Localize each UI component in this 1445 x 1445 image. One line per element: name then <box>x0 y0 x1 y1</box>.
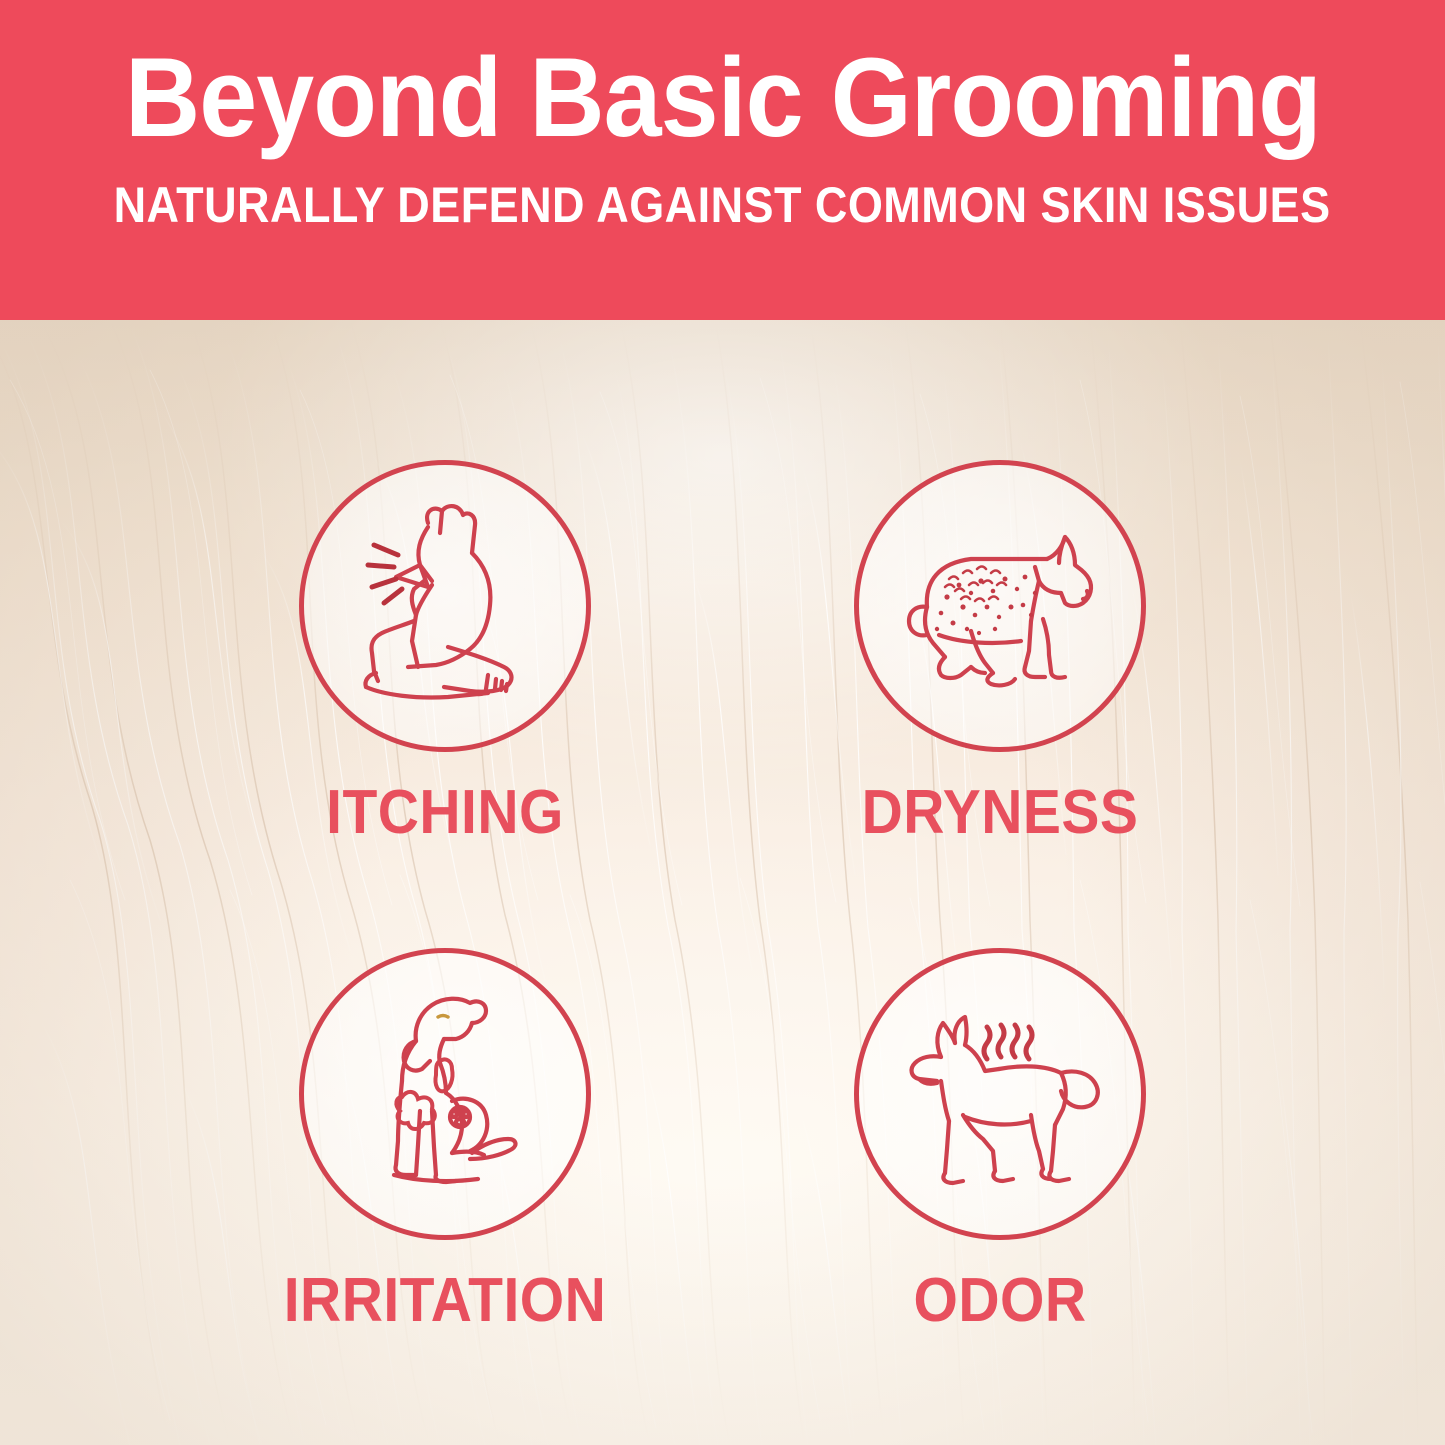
issue-icon-circle <box>854 948 1146 1240</box>
page-title: Beyond Basic Grooming <box>125 42 1321 154</box>
dog-irritated-skin-icon <box>320 969 570 1219</box>
issue-icon-circle <box>299 460 591 752</box>
dog-flaky-skin-icon <box>875 481 1125 731</box>
issue-label-odor: ODOR <box>807 1270 1193 1332</box>
issue-label-itching: ITCHING <box>252 782 638 844</box>
issue-icon-circle <box>299 948 591 1240</box>
issue-card-odor: ODOR <box>790 948 1210 1332</box>
issue-card-irritation: IRRITATION <box>235 948 655 1332</box>
issue-card-itching: ITCHING <box>235 460 655 844</box>
infographic-page: Beyond Basic Grooming NATURALLY DEFEND A… <box>0 0 1445 1445</box>
dog-odor-icon <box>875 969 1125 1219</box>
issue-label-irritation: IRRITATION <box>252 1270 638 1332</box>
dog-scratching-icon <box>320 481 570 731</box>
issue-icon-circle <box>854 460 1146 752</box>
skin-issues-grid: ITCHING <box>0 320 1445 1445</box>
issue-label-dryness: DRYNESS <box>807 782 1193 844</box>
header-banner: Beyond Basic Grooming NATURALLY DEFEND A… <box>0 0 1445 320</box>
issue-card-dryness: DRYNESS <box>790 460 1210 844</box>
page-subtitle: NATURALLY DEFEND AGAINST COMMON SKIN ISS… <box>114 180 1331 230</box>
